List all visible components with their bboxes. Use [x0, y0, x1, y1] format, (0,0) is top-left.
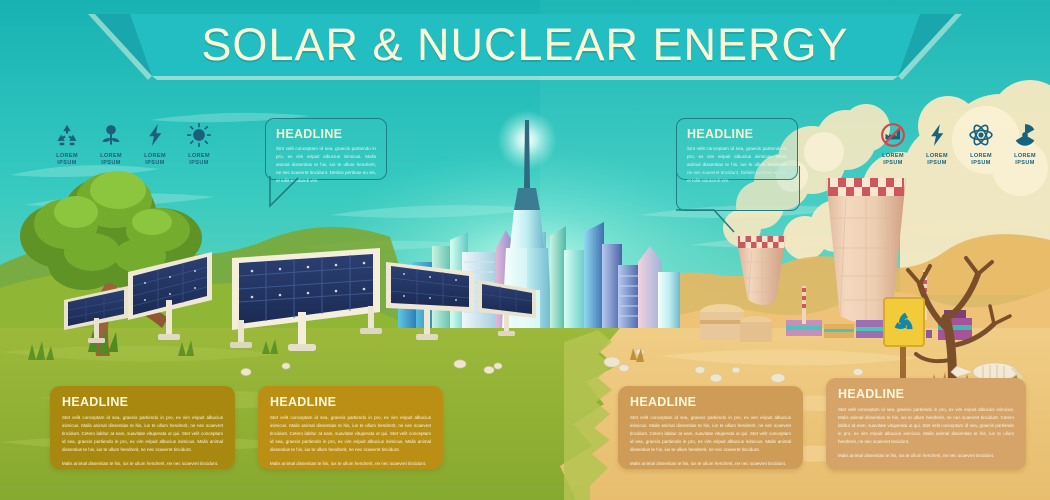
icon-label: LOREM IPSUM [144, 153, 166, 167]
panel-heading: HEADLINE [62, 395, 223, 409]
icon-cell-radiation[interactable]: LOREM IPSUM [1010, 122, 1040, 167]
callout-left-tail [268, 176, 308, 212]
icon-cell-atom[interactable]: LOREM IPSUM [966, 122, 996, 167]
icon-label: LOREM IPSUM [100, 153, 122, 167]
green-energy-icon-strip: LOREM IPSUM LOREM IPSUM LOREM IPSUM [52, 122, 214, 167]
lightning-bolt-icon [142, 122, 168, 148]
icon-label: LOREM IPSUM [970, 153, 992, 167]
tower-checker-band [828, 178, 904, 196]
tower-checker-band [738, 236, 784, 248]
callout-right-tail [676, 208, 736, 240]
icon-label: LOREM IPSUM [882, 153, 904, 167]
panel-body-2: Malis animal dissentias te his, ius te u… [270, 460, 431, 468]
page-title: SOLAR & NUCLEAR ENERGY [130, 14, 920, 76]
icon-label: LOREM IPSUM [188, 153, 210, 167]
icon-cell-recycle[interactable]: LOREM IPSUM [52, 122, 82, 167]
atom-icon [968, 122, 994, 148]
plant-flower-icon [98, 122, 124, 148]
icon-label: LOREM IPSUM [56, 153, 78, 167]
icon-cell-no-factory[interactable]: LOREM IPSUM [878, 122, 908, 167]
info-panel-3: HEADLINE Stet velit conceptam id sea, gr… [618, 386, 803, 469]
sun-icon [186, 122, 212, 148]
panel-body-1: Stet velit conceptam id sea, graecis par… [838, 406, 1014, 445]
info-panel-1: HEADLINE Stet velit conceptam id sea, gr… [50, 386, 235, 469]
panel-body-2: Malis animal dissentias te his, ius te u… [838, 452, 1014, 460]
callout-heading: HEADLINE [687, 127, 787, 141]
lightning-bolt-icon [924, 122, 950, 148]
title-banner: SOLAR & NUCLEAR ENERGY [130, 14, 920, 76]
panel-body-1: Stet velit conceptam id sea, graecis par… [62, 414, 223, 453]
infographic-root: SOLAR & NUCLEAR ENERGY LOREM IPSUM [0, 0, 1050, 500]
info-panel-2: HEADLINE Stet velit conceptam id sea, gr… [258, 386, 443, 469]
panel-heading: HEADLINE [630, 395, 791, 409]
panel-body-1: Stet velit conceptam id sea, graecis par… [270, 414, 431, 453]
icon-cell-plant[interactable]: LOREM IPSUM [96, 122, 126, 167]
callout-right-extension [676, 166, 800, 211]
icon-label: LOREM IPSUM [926, 153, 948, 167]
panel-heading: HEADLINE [838, 387, 1014, 401]
panel-body-2: Malis animal dissentias te his, ius te u… [630, 460, 791, 468]
info-panel-4: HEADLINE Stet velit conceptam id sea, gr… [826, 378, 1026, 470]
panel-body-2: Malis animal dissentias te his, ius te u… [62, 460, 223, 468]
callout-left: HEADLINE Sint velit conceptam id sea, gr… [265, 118, 387, 180]
callout-heading: HEADLINE [276, 127, 376, 141]
panel-body-1: Stet velit conceptam id sea, graecis par… [630, 414, 791, 453]
panel-heading: HEADLINE [270, 395, 431, 409]
icon-label: LOREM IPSUM [1014, 153, 1036, 167]
icon-cell-bolt[interactable]: LOREM IPSUM [140, 122, 170, 167]
radiation-icon [1012, 122, 1038, 148]
recycle-icon [54, 122, 80, 148]
icon-cell-sun[interactable]: LOREM IPSUM [184, 122, 214, 167]
nuclear-energy-icon-strip: LOREM IPSUM LOREM IPSUM LOREM IPSUM [878, 122, 1040, 167]
icon-cell-bolt[interactable]: LOREM IPSUM [922, 122, 952, 167]
no-factory-icon [880, 122, 906, 148]
